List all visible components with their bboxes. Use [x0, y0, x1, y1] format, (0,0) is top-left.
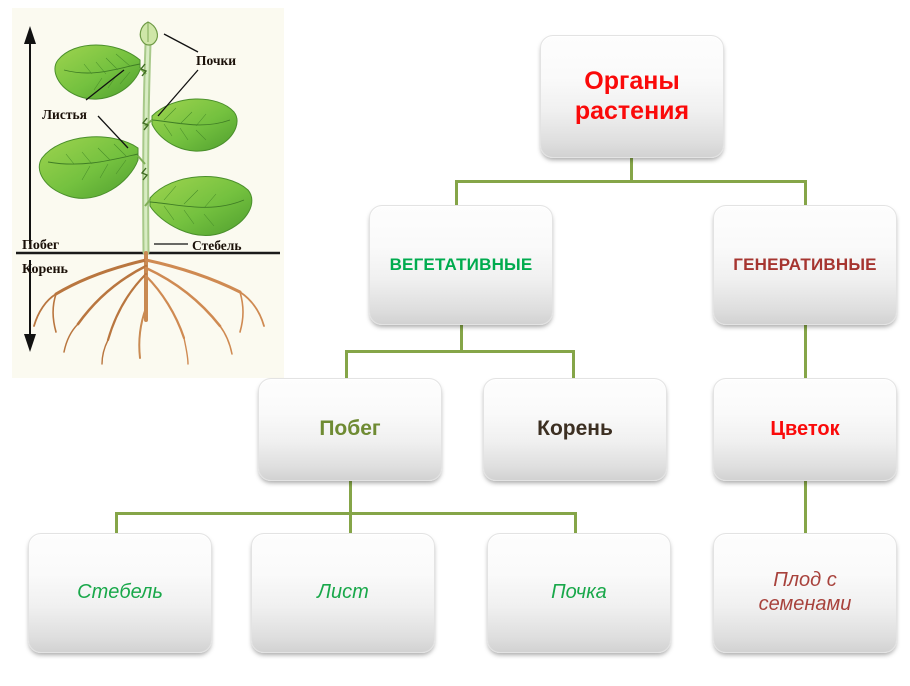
node-label-cvetok: Цветок: [770, 418, 839, 442]
connector-to-stebel: [115, 512, 118, 534]
plant-label-root: Корень: [22, 263, 68, 277]
node-label-plod-line1: Плод с: [773, 569, 837, 591]
node-pobeg[interactable]: Побег: [258, 378, 442, 481]
node-label-organy-rasteniya: Органы растения: [549, 67, 715, 126]
node-organy-rasteniya[interactable]: Органы растения: [540, 35, 724, 158]
connector-to-generativnye: [804, 180, 807, 206]
connector-level4-bus: [115, 512, 577, 515]
node-label-pochka: Почка: [551, 581, 607, 605]
connector-root-down: [630, 158, 633, 182]
node-label-plod-s-semenami: Плод с семенами: [759, 569, 852, 616]
connector-to-cvetok: [804, 325, 807, 379]
slide-canvas: Почки Листья Стебель Побег Корень Органы…: [0, 0, 910, 686]
plant-label-buds: Почки: [196, 54, 236, 68]
plant-label-shoot: Побег: [22, 239, 59, 253]
connector-vegetativnye-down: [460, 325, 463, 351]
connector-to-plod: [804, 481, 807, 534]
node-label-list: Лист: [317, 581, 369, 605]
node-plod-s-semenami[interactable]: Плод с семенами: [713, 533, 897, 653]
connector-to-koren: [572, 350, 575, 379]
connector-to-vegetativnye: [455, 180, 458, 206]
node-label-koren: Корень: [537, 417, 613, 442]
plant-label-stem: Стебель: [192, 239, 241, 253]
node-label-vegetativnye: ВЕГЕТАТИВНЫЕ: [390, 255, 533, 275]
node-koren[interactable]: Корень: [483, 378, 667, 481]
connector-level3-bus: [345, 350, 575, 353]
node-label-plod-line2: семенами: [759, 593, 852, 615]
node-list[interactable]: Лист: [251, 533, 435, 653]
node-vegetativnye[interactable]: ВЕГЕТАТИВНЫЕ: [369, 205, 553, 325]
node-label-generativnye: ГЕНЕРАТИВНЫЕ: [733, 255, 876, 275]
node-label-stebel: Стебель: [77, 581, 163, 605]
connector-to-pobeg: [345, 350, 348, 379]
node-stebel[interactable]: Стебель: [28, 533, 212, 653]
plant-anatomy-illustration: Почки Листья Стебель Побег Корень: [12, 8, 284, 378]
connector-pobeg-down: [349, 481, 352, 534]
plant-label-leaves: Листья: [42, 108, 87, 122]
node-generativnye[interactable]: ГЕНЕРАТИВНЫЕ: [713, 205, 897, 325]
node-cvetok[interactable]: Цветок: [713, 378, 897, 481]
connector-to-pochka: [574, 512, 577, 534]
node-label-pobeg: Побег: [319, 417, 380, 442]
plant-anatomy-drawing: [12, 8, 284, 378]
connector-level2-bus: [455, 180, 807, 183]
node-pochka[interactable]: Почка: [487, 533, 671, 653]
